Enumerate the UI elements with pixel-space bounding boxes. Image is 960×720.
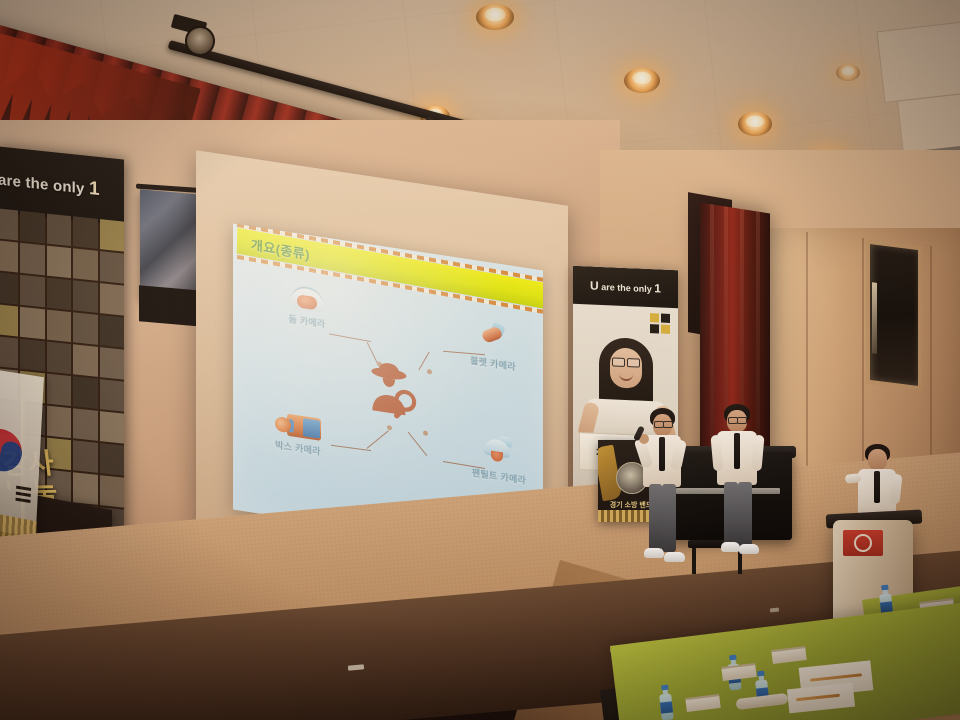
window-light-strip	[872, 282, 877, 353]
banner-photo-cell	[0, 304, 18, 337]
banner-photo-cell	[47, 406, 71, 439]
ceiling-light-2	[624, 68, 660, 93]
shoe-left	[721, 542, 740, 552]
poster-headline-bar: U are the only 1	[573, 266, 678, 309]
banner-photo-cell	[47, 214, 71, 247]
presenter-with-microphone	[636, 408, 694, 568]
glasses-icon-right	[663, 421, 673, 428]
banner-headline-text: are the only	[0, 171, 85, 197]
bullet-camera-icon	[478, 321, 508, 356]
ceiling-light-12	[836, 64, 860, 81]
banner-photo-cell	[100, 379, 124, 412]
banner-photo-cell	[100, 315, 124, 348]
banner-photo-cell	[20, 211, 44, 244]
banner-photo-cell	[47, 246, 71, 279]
glasses-icon	[612, 357, 625, 367]
dome-camera-icon	[290, 284, 324, 313]
banner-photo-cell	[73, 376, 97, 409]
node-dome: 돔 카메라	[269, 281, 345, 333]
banner-photo-cell	[0, 208, 18, 241]
geometric-banner-footer	[139, 285, 203, 327]
banner-photo-cell	[47, 278, 71, 311]
banner-photo-cell	[20, 339, 44, 372]
quad-logo-icon	[650, 313, 670, 334]
detective-icon	[360, 355, 426, 431]
banner-photo-cell	[100, 251, 124, 284]
banner-photo-cell	[47, 342, 71, 375]
auditorium-presentation-photo: are the only 1 감사 나눔 대학교 개요(종류)	[0, 0, 960, 720]
node-dome-label: 돔 카메라	[269, 309, 345, 333]
banner-photo-cell	[100, 347, 124, 380]
poster-headline: U are the only 1	[590, 278, 661, 295]
banner-photo-cell	[73, 216, 97, 249]
ptz-camera-icon	[482, 433, 516, 468]
banner-photo-cell	[73, 280, 97, 313]
poster-headline-u: U	[590, 278, 599, 292]
banner-photo-cell	[47, 374, 71, 407]
node-ptz-label: 팬틸트 카메라	[459, 464, 539, 489]
glasses-icon-right	[737, 417, 747, 424]
banner-photo-cell	[20, 275, 44, 308]
dark-window	[866, 240, 922, 391]
banner-photo-cell	[100, 219, 124, 252]
ceiling-light-3	[738, 112, 772, 136]
banner-photo-cell	[0, 272, 18, 305]
shoe-left	[644, 548, 664, 558]
banner-headline-number: 1	[89, 178, 100, 200]
shoe-right	[664, 552, 685, 562]
glasses-icon-right	[627, 358, 640, 368]
node-box: 박스 카메라	[255, 409, 341, 461]
banner-photo-cell	[73, 312, 97, 345]
banner-photo-cell	[0, 240, 18, 273]
banner-photo-cell	[0, 336, 18, 369]
banner-photo-cell	[100, 283, 124, 316]
banner-photo-cell	[20, 243, 44, 276]
poster-headline-number: 1	[654, 281, 661, 295]
poster-headline-text: are the only	[601, 282, 652, 294]
banner-photo-cell	[73, 408, 97, 441]
node-box-label: 박스 카메라	[255, 435, 341, 461]
box-camera-icon	[275, 412, 321, 441]
banner-photo-cell	[20, 307, 44, 340]
banner-headline: are the only 1	[0, 168, 100, 201]
node-ptz: 팬틸트 카메라	[459, 430, 539, 489]
banner-photo-cell	[47, 310, 71, 343]
podium-crest-icon	[843, 530, 883, 556]
ceiling-light-1	[476, 4, 514, 30]
banner-photo-cell	[73, 248, 97, 281]
shoe-right	[739, 544, 759, 554]
banner-photo-cell	[100, 411, 124, 444]
banner-photo-cell	[73, 344, 97, 377]
presenter-standing	[712, 404, 766, 560]
